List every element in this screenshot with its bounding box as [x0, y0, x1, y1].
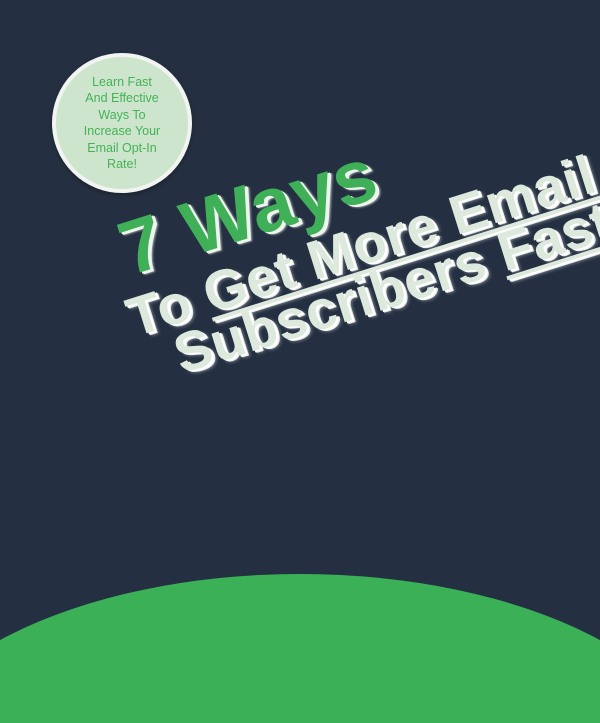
badge-line-3: Ways To	[62, 107, 182, 124]
badge-line-5: Email Opt-In	[62, 140, 182, 157]
badge-text-block: Learn Fast And Effective Ways To Increas…	[62, 74, 182, 173]
badge-line-6: Rate!	[62, 156, 182, 173]
learn-fast-badge: Learn Fast And Effective Ways To Increas…	[52, 53, 192, 193]
badge-line-2: And Effective	[62, 90, 182, 107]
bottom-green-ellipse	[0, 574, 600, 723]
badge-line-4: Increase Your	[62, 123, 182, 140]
poster-canvas: Learn Fast And Effective Ways To Increas…	[0, 0, 600, 723]
badge-line-1: Learn Fast	[62, 74, 182, 91]
